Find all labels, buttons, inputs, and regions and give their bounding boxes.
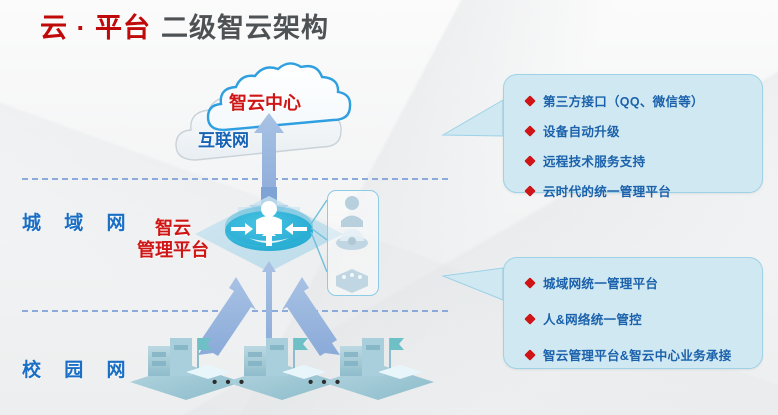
list-item: 人&网络统一管控 (526, 309, 762, 328)
list-item-label: 设备自动升级 (543, 121, 620, 140)
diamond-bullet-icon (524, 95, 535, 106)
list-item: 设备自动升级 (526, 121, 762, 140)
diamond-bullet-icon (524, 349, 535, 360)
diamond-bullet-icon (524, 277, 535, 288)
list-item-label: 城域网统一管理平台 (543, 273, 658, 292)
callout-top-tail (443, 100, 503, 136)
list-item-label: 远程技术服务支持 (543, 151, 645, 170)
campus-ellipsis-2: • • • (308, 374, 342, 391)
diamond-bullet-icon (524, 313, 535, 324)
callout-metro-platform: 城域网统一管理平台 人&网络统一管控 智云管理平台&智云中心业务承接 (503, 257, 763, 369)
cloud-center-label: 智云中心 (229, 89, 301, 115)
cloud-internet-label: 互联网 (198, 126, 249, 151)
list-item-label: 智云管理平台&智云中心业务承接 (543, 345, 732, 364)
platform-label-line1: 智云 (127, 218, 219, 240)
callout-bottom-tail (443, 268, 503, 300)
list-item: 远程技术服务支持 (526, 151, 762, 170)
callout-metro-platform-list: 城域网统一管理平台 人&网络统一管控 智云管理平台&智云中心业务承接 (504, 258, 762, 364)
callout-cloud-center: 第三方接口（QQ、微信等） 设备自动升级 远程技术服务支持 云时代的统一管理平台 (503, 74, 763, 193)
device-panel (327, 190, 379, 296)
diamond-bullet-icon (524, 185, 535, 196)
callout-cloud-center-list: 第三方接口（QQ、微信等） 设备自动升级 远程技术服务支持 云时代的统一管理平台 (504, 75, 762, 200)
diamond-bullet-icon (524, 155, 535, 166)
list-item-label: 人&网络统一管控 (543, 309, 642, 328)
diamond-bullet-icon (524, 125, 535, 136)
campus-ellipsis-1: • • • (212, 374, 246, 391)
platform-label: 智云 管理平台 (127, 218, 219, 262)
platform-label-line2: 管理平台 (127, 240, 219, 262)
list-item: 城域网统一管理平台 (526, 273, 762, 292)
list-item: 第三方接口（QQ、微信等） (526, 91, 762, 110)
list-item: 云时代的统一管理平台 (526, 181, 762, 200)
list-item: 智云管理平台&智云中心业务承接 (526, 345, 762, 364)
list-item-label: 第三方接口（QQ、微信等） (543, 91, 704, 110)
slide-canvas: 云 · 平台二级智云架构 城 域 网 校 园 网 (0, 0, 778, 415)
list-item-label: 云时代的统一管理平台 (543, 181, 671, 200)
